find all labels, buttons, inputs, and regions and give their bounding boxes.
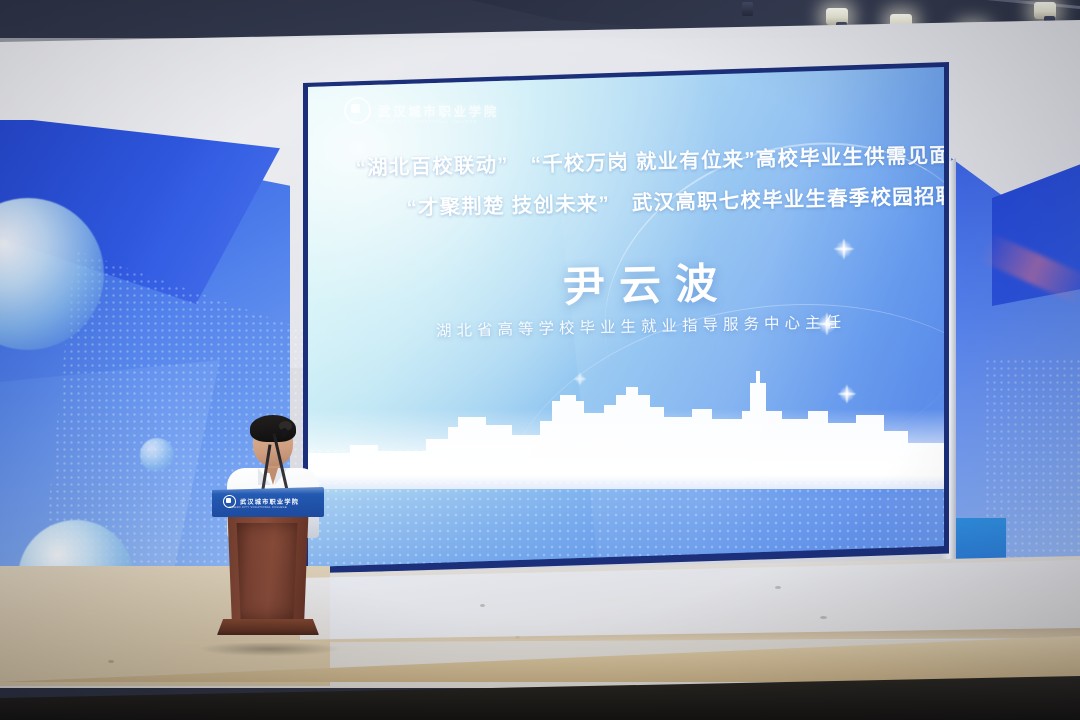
floor-speck xyxy=(108,660,114,663)
screen-institution-logo: 武汉城市职业学院 WUHAN CITY VOCATIONAL COLLEGE xyxy=(344,97,499,124)
decorative-sphere xyxy=(140,438,174,472)
podium-front-face xyxy=(234,523,300,619)
spotlight-housing xyxy=(742,2,753,16)
floor-speck xyxy=(820,616,827,619)
podium-header-highlight xyxy=(212,487,324,494)
microphone-icon xyxy=(281,428,288,437)
sparkle-icon xyxy=(834,239,854,259)
stage-set-right xyxy=(940,158,1080,588)
podium-institution-name-cn: 武汉城市职业学院 xyxy=(240,497,299,506)
institution-name-cn: 武汉城市职业学院 xyxy=(378,101,499,120)
screen-dot-field xyxy=(308,447,944,567)
screen-headline: “湖北百校联动”“千校万岗 就业有位来”高校毕业生供需见面会暨 “才聚荆楚 技创… xyxy=(308,138,944,223)
led-screen: 武汉城市职业学院 WUHAN CITY VOCATIONAL COLLEGE “… xyxy=(308,67,944,567)
headline-quote-3: “才聚荆楚 技创未来” xyxy=(406,192,610,219)
floor-speck xyxy=(775,586,781,589)
institution-emblem-icon xyxy=(344,97,371,124)
headline-tail-1: 高校毕业生供需见面会暨 xyxy=(756,143,944,171)
podium-header-panel: 武汉城市职业学院 WUHAN CITY VOCATIONAL COLLEGE xyxy=(212,487,324,517)
sparkle-icon xyxy=(816,313,838,335)
sparkle-icon xyxy=(838,385,856,403)
institution-name-en: WUHAN CITY VOCATIONAL COLLEGE xyxy=(376,119,477,124)
sparkle-icon xyxy=(574,373,586,385)
podium: 武汉城市职业学院 WUHAN CITY VOCATIONAL COLLEGE xyxy=(212,487,324,647)
headline-quote-2: “千校万岗 就业有位来” xyxy=(530,148,756,176)
floor-speck xyxy=(480,604,485,607)
podium-base xyxy=(217,619,319,635)
scene-root: 武汉城市职业学院 WUHAN CITY VOCATIONAL COLLEGE “… xyxy=(0,0,1080,720)
podium-institution-name-en: WUHAN CITY VOCATIONAL COLLEGE xyxy=(229,506,287,509)
headline-quote-1: “湖北百校联动” xyxy=(355,154,509,180)
